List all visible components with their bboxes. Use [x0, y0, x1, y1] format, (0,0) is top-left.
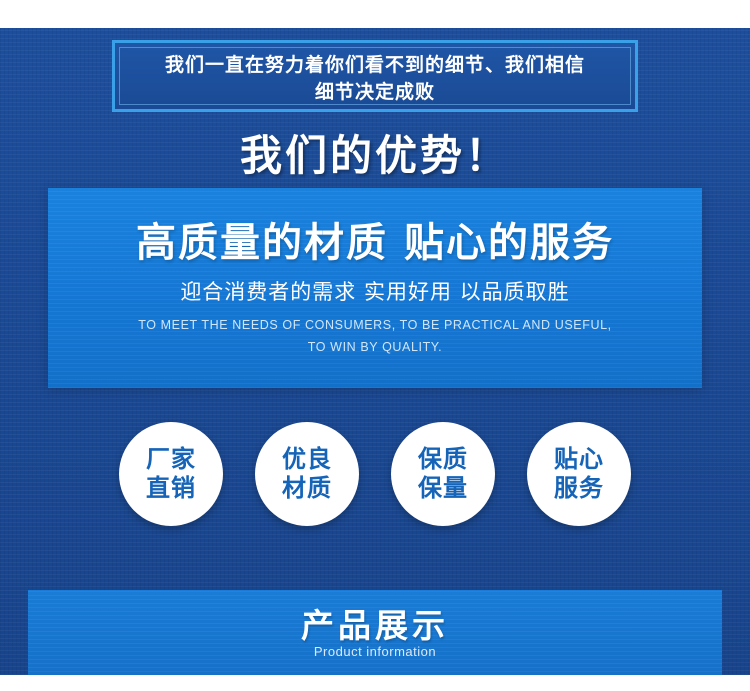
feature-circle-line-1: 保质 [418, 445, 468, 474]
headline-banner: 我们一直在努力着你们看不到的细节、我们相信 细节决定成败 [112, 40, 638, 112]
feature-circle-line-2: 直销 [146, 474, 196, 503]
middle-panel-english-line-1: TO MEET THE NEEDS OF CONSUMERS, TO BE PR… [48, 314, 702, 336]
feature-circle-line-1: 贴心 [554, 445, 604, 474]
promo-page: 我们一直在努力着你们看不到的细节、我们相信 细节决定成败 我们的优势！ 高质量的… [0, 0, 750, 691]
headline-line-1: 我们一直在努力着你们看不到的细节、我们相信 [115, 52, 635, 79]
middle-panel-english-line-2: TO WIN BY QUALITY. [48, 336, 702, 358]
product-section-bar: 产品展示 Product information [28, 590, 722, 676]
headline-text: 我们一直在努力着你们看不到的细节、我们相信 细节决定成败 [115, 52, 635, 106]
feature-circle: 保质 保量 [391, 422, 495, 526]
bottom-white-margin [0, 675, 750, 691]
feature-circle-line-2: 材质 [282, 474, 332, 503]
headline-line-2: 细节决定成败 [115, 79, 635, 106]
product-section-title-cn: 产品展示 [28, 599, 722, 647]
advantage-title: 我们的优势！ [0, 122, 750, 183]
feature-circle: 贴心 服务 [527, 422, 631, 526]
feature-circle-line-2: 保量 [418, 474, 468, 503]
middle-panel-english: TO MEET THE NEEDS OF CONSUMERS, TO BE PR… [48, 314, 702, 358]
top-white-margin [0, 0, 750, 28]
middle-panel-main-title: 高质量的材质 贴心的服务 [48, 210, 702, 268]
feature-circle-group: 厂家 直销 优良 材质 保质 保量 贴心 服务 [0, 422, 750, 526]
middle-panel-sub-title: 迎合消费者的需求 实用好用 以品质取胜 [48, 276, 702, 306]
feature-circle: 优良 材质 [255, 422, 359, 526]
middle-panel: 高质量的材质 贴心的服务 迎合消费者的需求 实用好用 以品质取胜 TO MEET… [48, 188, 702, 388]
product-section-title-en: Product information [28, 644, 722, 659]
feature-circle-line-1: 优良 [282, 445, 332, 474]
feature-circle-line-1: 厂家 [146, 445, 196, 474]
feature-circle: 厂家 直销 [119, 422, 223, 526]
feature-circle-line-2: 服务 [554, 474, 604, 503]
